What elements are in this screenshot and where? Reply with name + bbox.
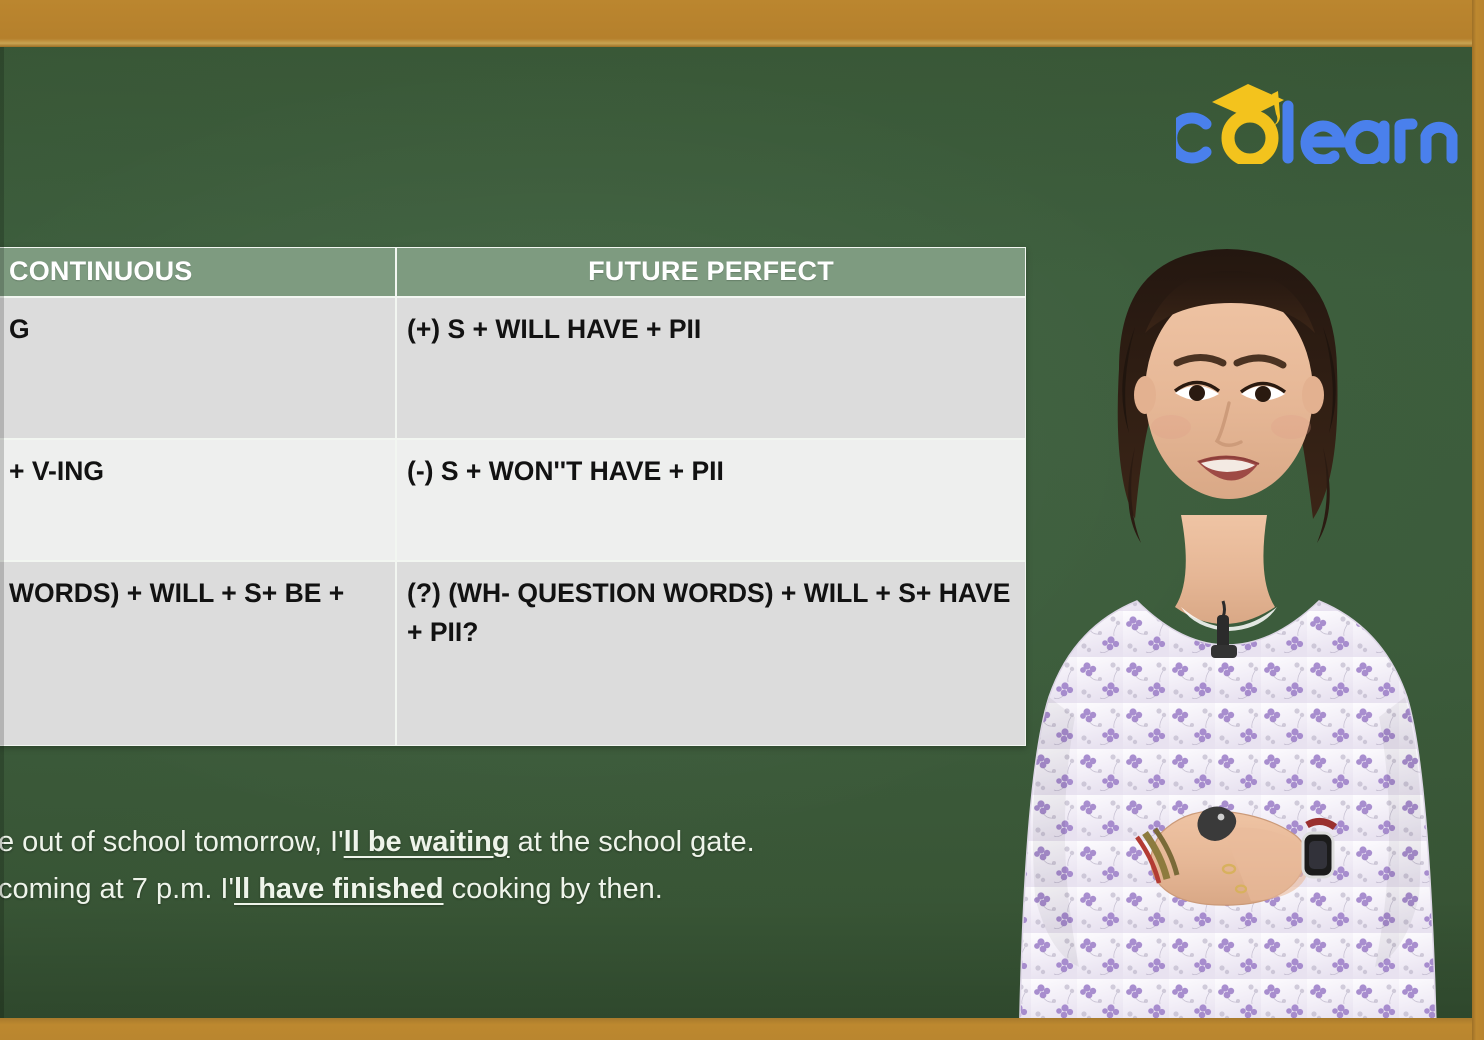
example-1-pre: e out of school tomorrow, I': [0, 826, 344, 858]
slide-stage: CONTINUOUS FUTURE PERFECT G (+) S + WILL…: [0, 0, 1484, 1040]
colearn-logo-svg: [1176, 72, 1458, 164]
cell-future-perfect-question: (?) (WH- QUESTION WORDS) + WILL + S+ HAV…: [396, 561, 1026, 746]
example-2-post: cooking by then.: [444, 873, 663, 905]
table-row: G (+) S + WILL HAVE + PII: [0, 297, 1026, 439]
column-header-continuous: CONTINUOUS: [0, 247, 396, 297]
table-header-row: CONTINUOUS FUTURE PERFECT: [0, 247, 1026, 297]
frame-left-shadow: [0, 47, 4, 1018]
cell-continuous-negative: + V-ING: [0, 439, 396, 561]
table-row: WORDS) + WILL + S+ BE + (?) (WH- QUESTIO…: [0, 561, 1026, 746]
cell-continuous-affirmative: G: [0, 297, 396, 439]
chalkboard-background: CONTINUOUS FUTURE PERFECT G (+) S + WILL…: [0, 47, 1472, 1018]
cell-future-perfect-affirmative: (+) S + WILL HAVE + PII: [396, 297, 1026, 439]
example-2-pre: coming at 7 p.m. I': [0, 873, 234, 905]
table-row: + V-ING (-) S + WON''T HAVE + PII: [0, 439, 1026, 561]
frame-top-bar: [0, 0, 1484, 47]
frame-bottom-bar: [0, 1018, 1484, 1040]
cell-continuous-question: WORDS) + WILL + S+ BE +: [0, 561, 396, 746]
cell-future-perfect-negative: (-) S + WON''T HAVE + PII: [396, 439, 1026, 561]
example-sentence-2: coming at 7 p.m. I'll have finished cook…: [0, 869, 898, 909]
table-body: G (+) S + WILL HAVE + PII + V-ING (-) S …: [0, 297, 1026, 746]
presenter-video-overlay: [985, 197, 1472, 1018]
table-head: CONTINUOUS FUTURE PERFECT: [0, 247, 1026, 297]
example-1-post: at the school gate.: [510, 826, 755, 858]
example-1-highlight: ll be waiting: [344, 826, 510, 858]
column-header-future-perfect: FUTURE PERFECT: [396, 247, 1026, 297]
colearn-logo[interactable]: [1176, 72, 1458, 164]
example-2-highlight: ll have finished: [234, 873, 444, 905]
presenter-figure: [985, 197, 1472, 1018]
presenter-head: [1118, 249, 1338, 543]
example-sentence-1: e out of school tomorrow, I'll be waitin…: [0, 822, 898, 862]
frame-right-bar: [1472, 0, 1484, 1040]
example-sentences: e out of school tomorrow, I'll be waitin…: [0, 822, 898, 916]
grammar-comparison-table: CONTINUOUS FUTURE PERFECT G (+) S + WILL…: [0, 247, 1026, 746]
